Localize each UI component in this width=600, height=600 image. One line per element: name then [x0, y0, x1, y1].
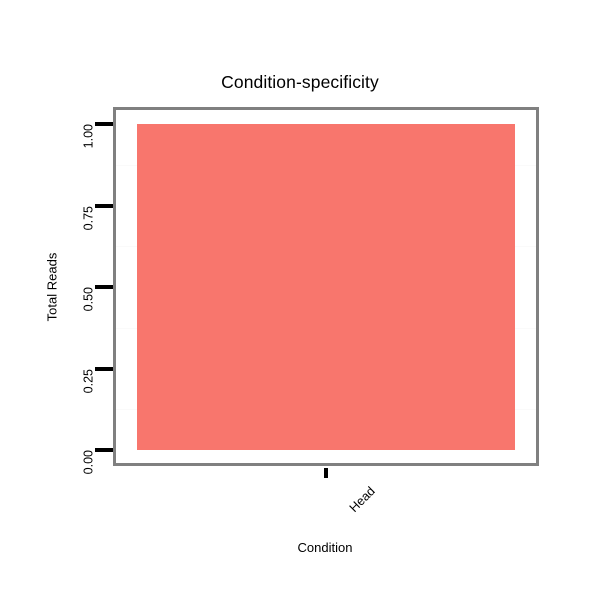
x-axis-title-container: Condition	[0, 540, 600, 555]
y-axis-tick	[95, 285, 113, 289]
x-axis-title: Condition	[298, 540, 353, 555]
y-axis-tick	[95, 122, 113, 126]
y-axis-tick	[95, 367, 113, 371]
chart-title: Condition-specificity	[0, 72, 600, 93]
bar-head	[137, 124, 515, 450]
y-axis-tick-label: 1.00	[81, 124, 95, 148]
plot-panel	[113, 107, 539, 466]
y-axis-tick	[95, 204, 113, 208]
panel-inner	[116, 110, 536, 463]
y-axis-title: Total Reads	[45, 253, 60, 322]
y-axis-tick-label: 0.50	[81, 287, 95, 311]
y-axis-tick-label: 0.00	[81, 450, 95, 474]
y-axis-tick-label: 0.75	[81, 206, 95, 230]
x-axis-tick-label: Head	[347, 484, 378, 515]
y-axis-tick	[95, 448, 113, 452]
x-axis-tick	[324, 468, 328, 478]
chart-canvas: Condition-specificity 0.000.250.500.751.…	[0, 0, 600, 600]
y-axis-tick-label: 0.25	[81, 369, 95, 393]
